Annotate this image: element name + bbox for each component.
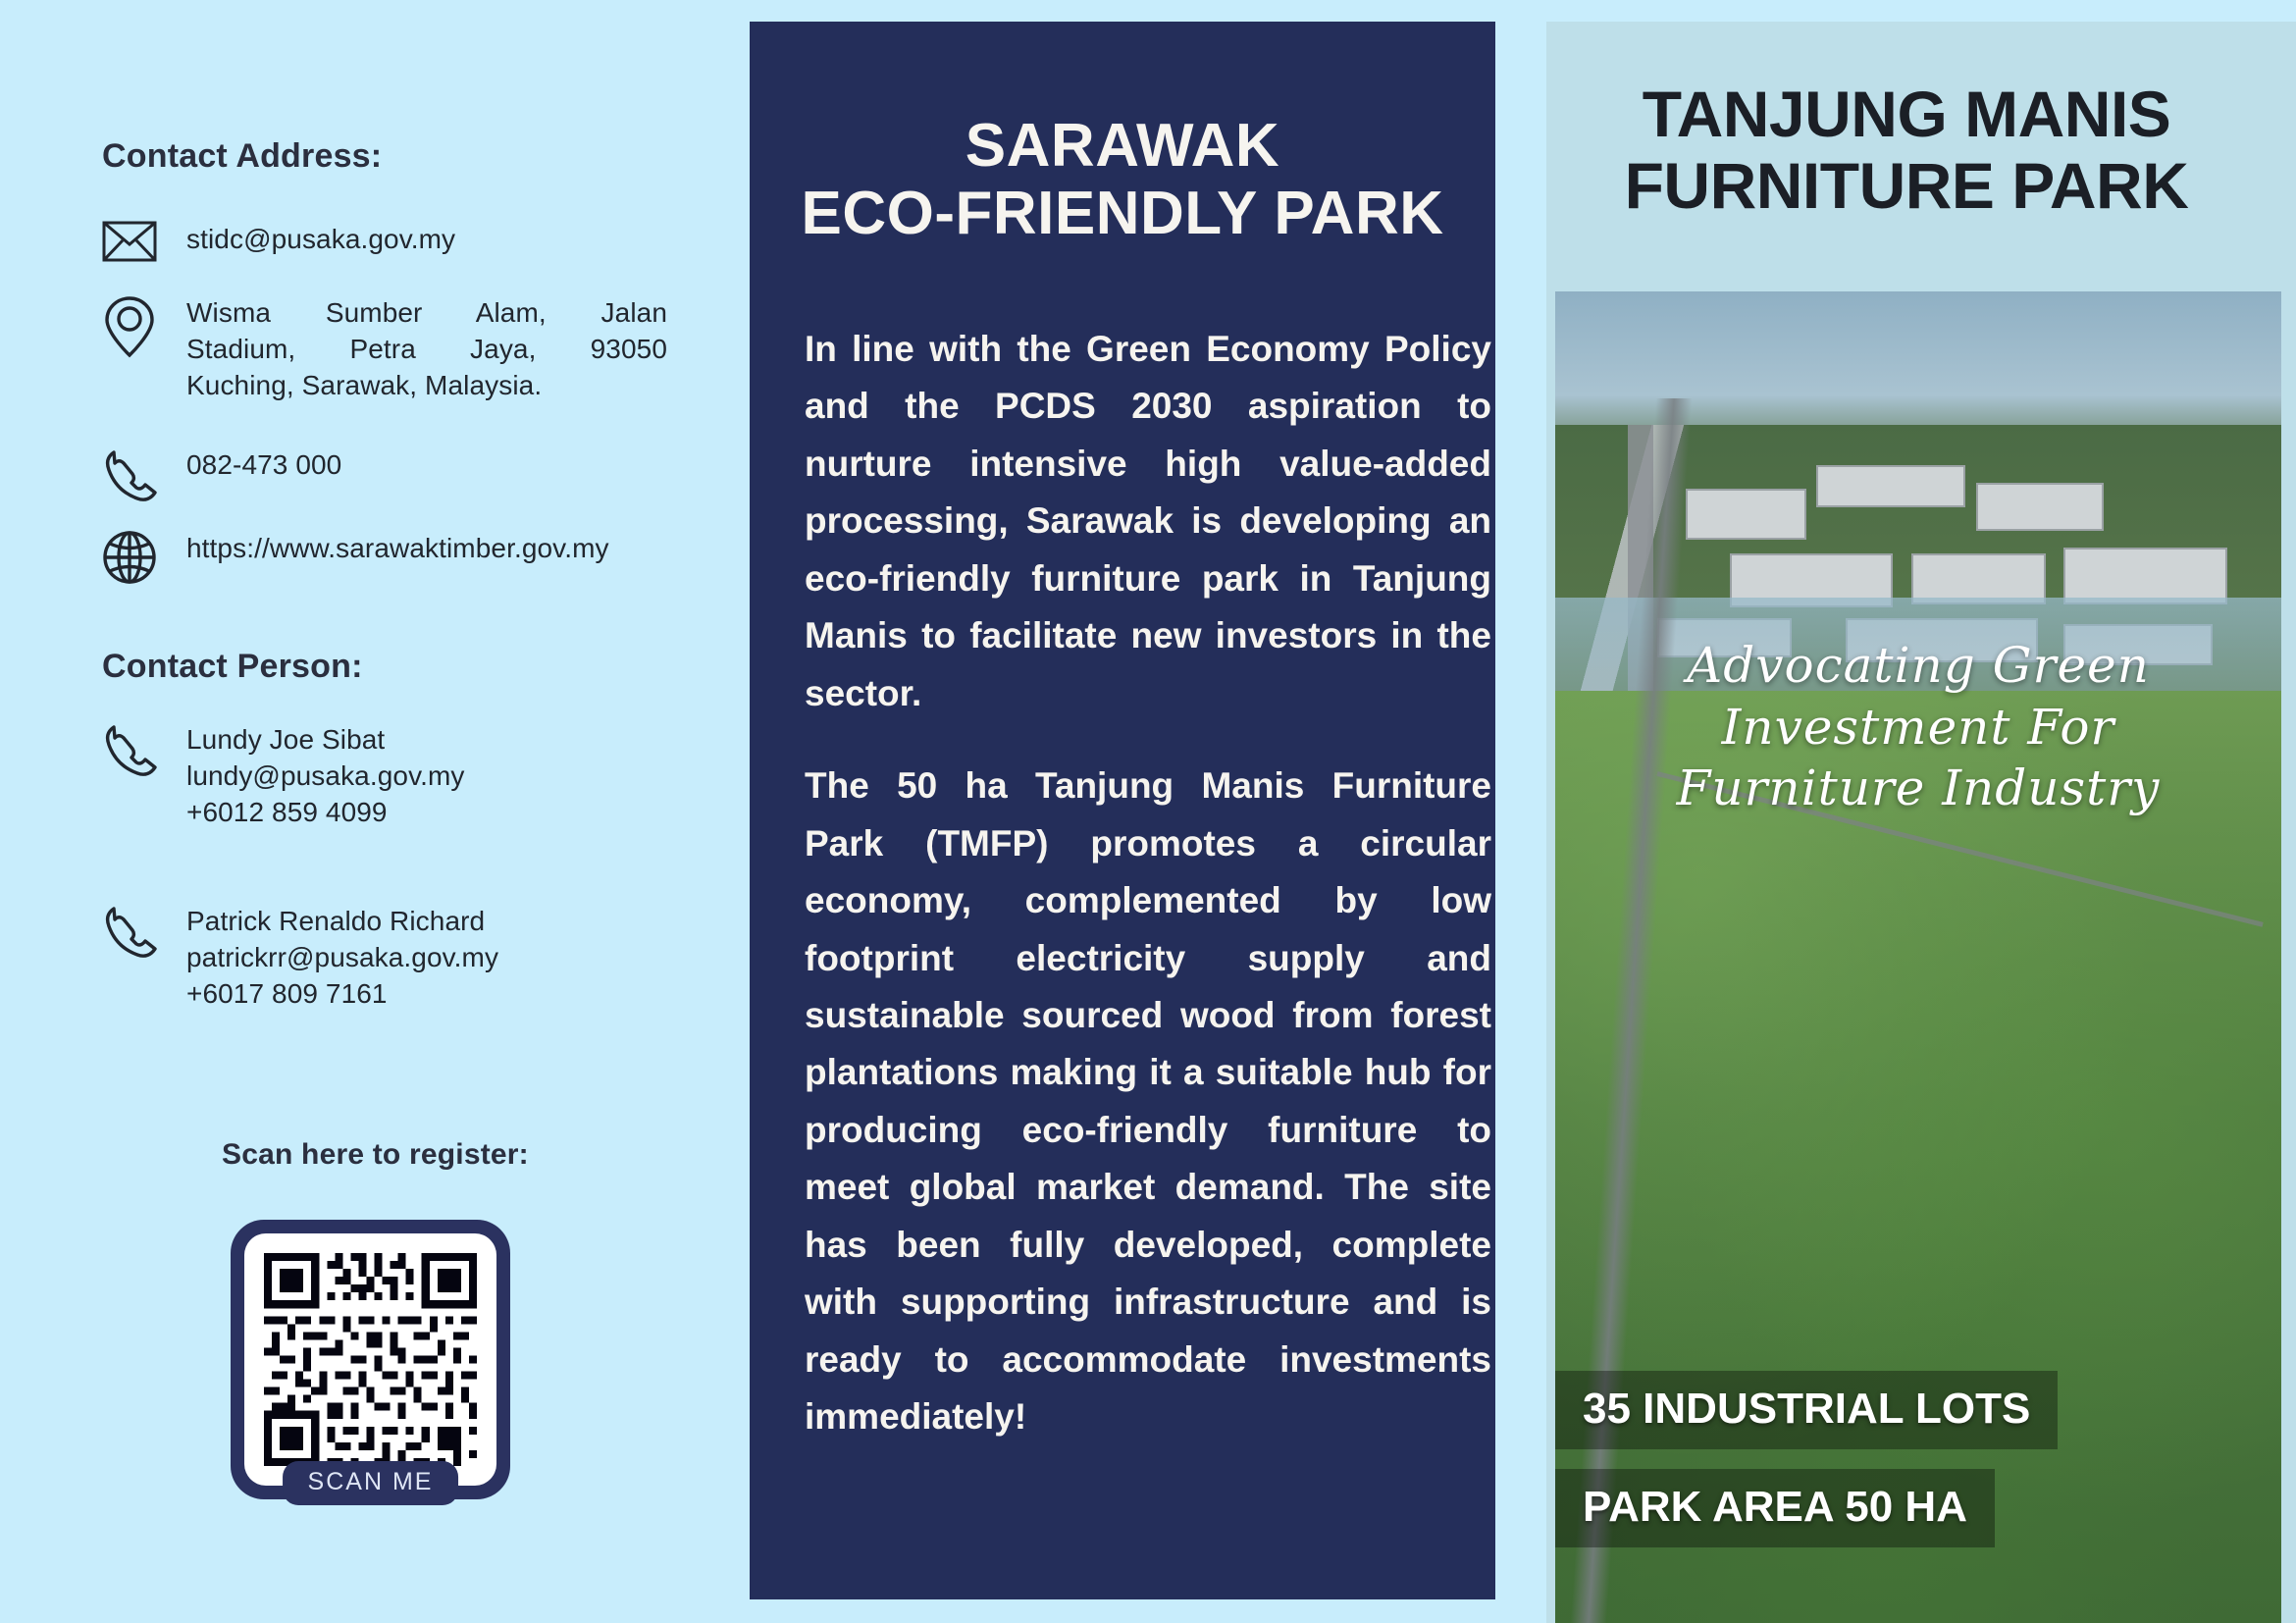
center-panel-title: SARAWAK ECO-FRIENDLY PARK bbox=[750, 112, 1495, 248]
cover-title-line-1: TANJUNG MANIS bbox=[1643, 78, 2171, 150]
scan-me-label: SCAN ME bbox=[283, 1461, 459, 1505]
contact-address-heading: Contact Address: bbox=[102, 137, 382, 176]
contact-email-text: stidc@pusaka.gov.my bbox=[186, 221, 455, 257]
person-1-name: Lundy Joe Sibat bbox=[186, 721, 465, 758]
tagline-line-1: Advocating Green Investment For bbox=[1687, 637, 2150, 756]
address-line-1: Wisma Sumber Alam, Jalan bbox=[186, 294, 667, 331]
center-paragraph-2: The 50 ha Tanjung Manis Furniture Park (… bbox=[805, 758, 1491, 1445]
contact-person-2-details: Patrick Renaldo Richard patrickrr@pusaka… bbox=[186, 903, 498, 1013]
contact-panel: Contact Address: stidc@pusaka.gov.my bbox=[0, 0, 750, 1623]
address-line-3: Kuching, Sarawak, Malaysia. bbox=[186, 367, 667, 403]
center-panel-body: In line with the Green Economy Policy an… bbox=[805, 321, 1491, 1482]
person-1-phone: +6012 859 4099 bbox=[186, 794, 465, 830]
contact-row-phone[interactable]: 082-473 000 bbox=[102, 446, 341, 503]
phone-icon bbox=[102, 446, 186, 503]
person-2-phone: +6017 809 7161 bbox=[186, 975, 498, 1012]
globe-icon bbox=[102, 530, 186, 585]
tagline-line-2: Furniture Industry bbox=[1555, 758, 2281, 819]
aerial-photo: Advocating Green Investment For Furnitur… bbox=[1555, 291, 2281, 1623]
address-line-2: Stadium, Petra Jaya, 93050 bbox=[186, 331, 667, 367]
contact-person-1[interactable]: Lundy Joe Sibat lundy@pusaka.gov.my +601… bbox=[102, 721, 465, 831]
contact-person-heading: Contact Person: bbox=[102, 648, 363, 686]
contact-phone-text: 082-473 000 bbox=[186, 446, 341, 483]
person-2-email: patrickrr@pusaka.gov.my bbox=[186, 939, 498, 975]
stat-industrial-lots: 35 INDUSTRIAL LOTS bbox=[1555, 1371, 2058, 1449]
brochure-page: Contact Address: stidc@pusaka.gov.my bbox=[0, 0, 2296, 1623]
contact-person-2[interactable]: Patrick Renaldo Richard patrickrr@pusaka… bbox=[102, 903, 498, 1013]
contact-row-email[interactable]: stidc@pusaka.gov.my bbox=[102, 221, 455, 262]
description-panel: SARAWAK ECO-FRIENDLY PARK In line with t… bbox=[750, 22, 1495, 1599]
person-2-name: Patrick Renaldo Richard bbox=[186, 903, 498, 939]
cover-tagline: Advocating Green Investment For Furnitur… bbox=[1555, 635, 2281, 819]
qr-code-image bbox=[244, 1233, 496, 1486]
scan-here-heading: Scan here to register: bbox=[222, 1138, 529, 1172]
center-title-line-1: SARAWAK bbox=[965, 112, 1279, 180]
center-title-line-2: ECO-FRIENDLY PARK bbox=[750, 180, 1495, 247]
contact-row-website[interactable]: https://www.sarawaktimber.gov.my bbox=[102, 530, 609, 585]
contact-website-text[interactable]: https://www.sarawaktimber.gov.my bbox=[186, 530, 609, 566]
cover-title-line-2: FURNITURE PARK bbox=[1546, 150, 2267, 222]
qr-code[interactable]: SCAN ME bbox=[231, 1220, 510, 1499]
contact-row-address[interactable]: Wisma Sumber Alam, Jalan Stadium, Petra … bbox=[102, 294, 667, 404]
cover-panel: TANJUNG MANIS FURNITURE PARK bbox=[1546, 22, 2296, 1623]
center-paragraph-1: In line with the Green Economy Policy an… bbox=[805, 321, 1491, 722]
stat-park-area: PARK AREA 50 HA bbox=[1555, 1469, 1995, 1547]
cover-title: TANJUNG MANIS FURNITURE PARK bbox=[1546, 79, 2267, 221]
phone-icon bbox=[102, 903, 186, 960]
contact-person-1-details: Lundy Joe Sibat lundy@pusaka.gov.my +601… bbox=[186, 721, 465, 831]
location-pin-icon bbox=[102, 294, 186, 359]
phone-icon bbox=[102, 721, 186, 778]
contact-address-text: Wisma Sumber Alam, Jalan Stadium, Petra … bbox=[186, 294, 667, 404]
person-1-email: lundy@pusaka.gov.my bbox=[186, 758, 465, 794]
envelope-icon bbox=[102, 221, 186, 262]
